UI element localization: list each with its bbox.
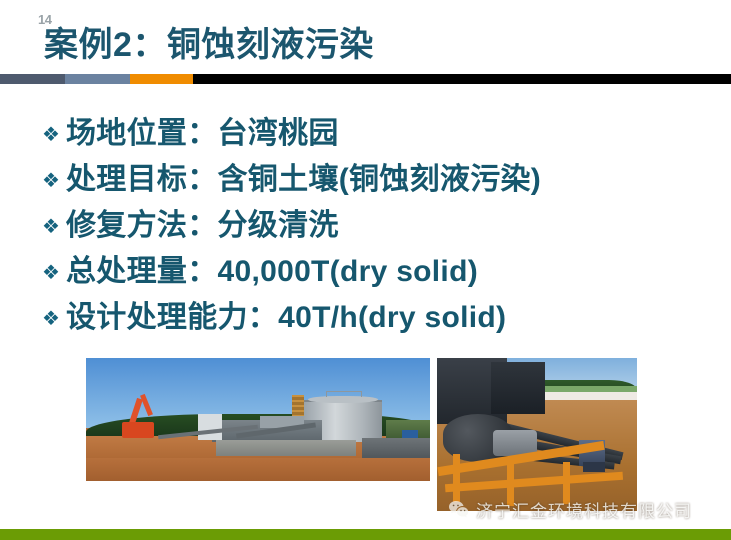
divider-segment-orange xyxy=(130,74,193,84)
list-item: ❖ 总处理量：40,000T(dry solid) xyxy=(42,246,702,292)
scissor-lift-base xyxy=(583,462,605,472)
list-item: ❖ 修复方法：分级清洗 xyxy=(42,200,702,246)
divider-segment-light-slate xyxy=(65,74,130,84)
diamond-bullet-icon: ❖ xyxy=(42,309,66,329)
page-title: 案例2：铜蚀刻液污染 xyxy=(44,17,374,66)
photo-site-overview xyxy=(86,358,430,481)
excavator-body xyxy=(122,422,154,438)
list-item-text: 修复方法：分级清洗 xyxy=(66,200,339,244)
diamond-bullet-icon: ❖ xyxy=(42,125,66,145)
watermark-text: 济宁汇金环境科技有限公司 xyxy=(476,497,692,522)
divider-segment-black xyxy=(193,74,731,84)
divider-bar xyxy=(0,74,731,84)
process-tank xyxy=(491,362,545,414)
list-item: ❖ 设计处理能力：40T/h(dry solid) xyxy=(42,292,702,338)
foreground-soil xyxy=(86,458,430,481)
silo-railing xyxy=(326,391,362,397)
silo-roof xyxy=(308,396,378,403)
bottom-green-strip xyxy=(0,529,731,540)
concrete-bay-wall xyxy=(216,440,356,456)
container-wall xyxy=(362,438,430,458)
list-item-text: 处理目标：含铜土壤(铜蚀刻液污染) xyxy=(66,154,541,198)
list-item-text: 总处理量：40,000T(dry solid) xyxy=(66,246,478,290)
divider-segment-dark-slate xyxy=(0,74,65,84)
watermark: 济宁汇金环境科技有限公司 xyxy=(448,497,692,522)
photo-conveyor-detail xyxy=(437,358,637,511)
wechat-icon xyxy=(448,500,469,519)
list-item-text: 场地位置：台湾桃园 xyxy=(66,108,339,152)
list-item: ❖ 场地位置：台湾桃园 xyxy=(42,108,702,154)
diamond-bullet-icon: ❖ xyxy=(42,263,66,283)
list-item: ❖ 处理目标：含铜土壤(铜蚀刻液污染) xyxy=(42,154,702,200)
bullet-list: ❖ 场地位置：台湾桃园 ❖ 处理目标：含铜土壤(铜蚀刻液污染) ❖ 修复方法：分… xyxy=(42,108,702,338)
handrail-post xyxy=(453,454,460,502)
diamond-bullet-icon: ❖ xyxy=(42,171,66,191)
list-item-text: 设计处理能力：40T/h(dry solid) xyxy=(66,292,506,336)
control-cabin xyxy=(198,414,222,440)
diamond-bullet-icon: ❖ xyxy=(42,217,66,237)
